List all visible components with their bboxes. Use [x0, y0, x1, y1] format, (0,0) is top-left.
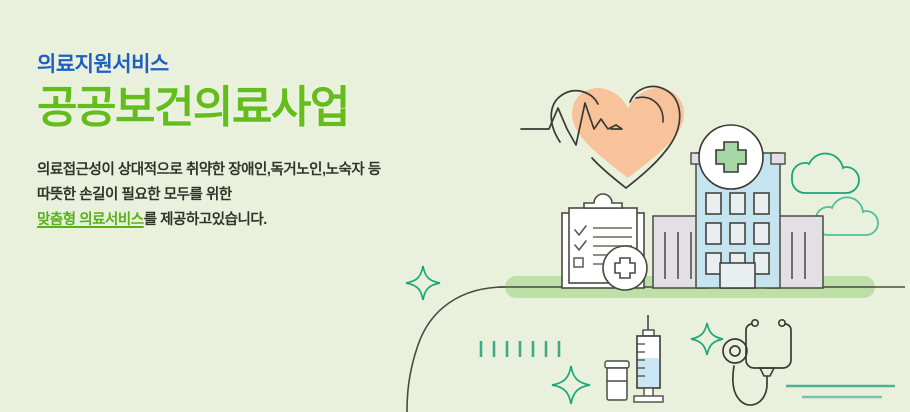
syringe-barrel	[637, 336, 660, 388]
hospital-left-wing-lines	[665, 232, 691, 279]
stethoscope-connector	[760, 368, 774, 376]
stethoscope-cord	[733, 366, 767, 405]
syringe-plunger-rod	[644, 388, 653, 397]
hospital-roof-ledge-right	[771, 153, 785, 164]
heart-fill	[572, 88, 684, 178]
public-health-service-banner: 의료지원서비스 공공보건의료사업 의료접근성이 상대적으로 취약한 장애인,독거…	[0, 0, 910, 412]
clipboard-body	[562, 213, 644, 288]
hospital-cross-circle	[699, 125, 763, 189]
stethoscope-chestpiece	[723, 339, 747, 363]
syringe-barrel-outline	[637, 336, 660, 388]
hospital-right-wing	[767, 216, 823, 288]
hospital-door	[720, 263, 755, 288]
ekg-waveform	[521, 103, 622, 145]
medical-cross-icon	[716, 142, 746, 172]
clipboard-checkmark-icon	[575, 241, 586, 250]
decorative-arc	[407, 287, 505, 412]
description-line-1: 의료접근성이 상대적으로 취약한 장애인,독거노인,노숙자 등	[37, 158, 467, 183]
stethoscope-tube-right	[783, 324, 791, 368]
heart-outline-right	[626, 86, 680, 188]
four-point-sparkle-icon	[691, 323, 723, 355]
syringe-tip	[643, 330, 654, 336]
syringe	[634, 315, 663, 402]
description-line-3: 맞춤형 의료서비스를 제공하고있습니다.	[37, 208, 467, 233]
hospital-windows	[706, 193, 769, 274]
hospital-building	[653, 125, 823, 288]
page-title: 공공보건의료사업	[37, 83, 467, 132]
heart-with-ekg	[521, 86, 684, 188]
syringe-liquid	[638, 358, 659, 387]
hospital-roof-ledge-left	[691, 153, 705, 164]
eyebrow-label: 의료지원서비스	[37, 52, 467, 77]
heart-outline-bottom	[592, 158, 626, 188]
stethoscope-chestpiece-inner	[730, 346, 740, 356]
hospital-tower	[696, 153, 780, 288]
clipboard-inner-border	[569, 208, 637, 283]
clipboard-empty-checkbox	[574, 258, 583, 267]
stethoscope-earpiece-right	[779, 320, 785, 326]
four-point-sparkle-icon	[552, 366, 590, 404]
hospital-left-wing	[653, 216, 709, 288]
clipboard-text-lines	[593, 228, 632, 264]
four-point-sparkle-icon	[406, 266, 440, 300]
description-line-2: 따뜻한 손길이 필요한 모두를 위한	[37, 183, 467, 208]
cloud-icon	[792, 154, 859, 193]
clipboard-cross-circle	[603, 246, 647, 290]
medical-cross-icon	[615, 258, 635, 278]
stethoscope-tube-left	[746, 324, 754, 368]
highlighted-service-term: 맞춤형 의료서비스	[37, 212, 144, 228]
vial-body	[607, 368, 627, 400]
hospital-right-wing-lines	[779, 232, 805, 279]
banner-description: 의료접근성이 상대적으로 취약한 장애인,독거노인,노숙자 등 따뜻한 손길이 …	[37, 158, 467, 233]
clipboard-checklist	[562, 194, 647, 290]
cloud-icon	[816, 197, 878, 235]
heart-outline	[551, 91, 598, 142]
heart-inner-arc	[636, 97, 663, 122]
medicine-vial	[605, 361, 629, 400]
clipboard-checkmark-icon	[575, 226, 586, 235]
ground-band	[505, 276, 875, 298]
banner-text-block: 의료지원서비스 공공보건의료사업 의료접근성이 상대적으로 취약한 장애인,독거…	[37, 52, 467, 233]
vial-cap	[605, 361, 629, 368]
description-line-3-rest: 를 제공하고있습니다.	[144, 212, 267, 228]
syringe-plunger-flange	[634, 396, 663, 402]
vertical-tick-marks	[481, 341, 559, 357]
syringe-graduations	[637, 344, 645, 376]
clipboard-clip	[584, 194, 622, 208]
stethoscope	[723, 320, 791, 405]
stethoscope-earpiece-left	[752, 320, 758, 326]
